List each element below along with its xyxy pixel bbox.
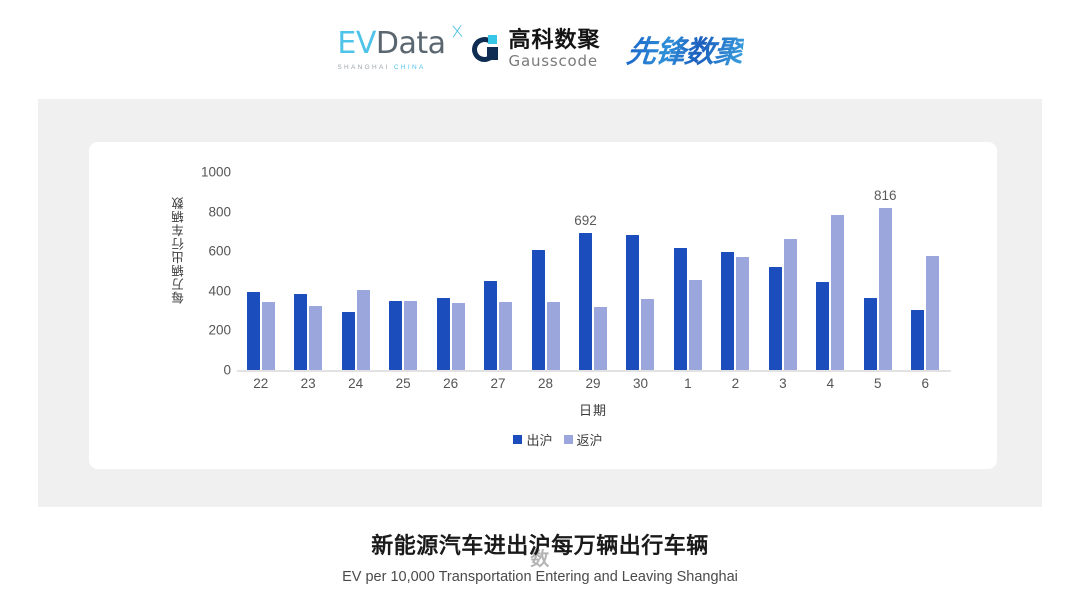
bar-group — [759, 172, 806, 370]
y-axis-tick-label: 0 — [223, 363, 231, 378]
x-axis-tick-label: 30 — [633, 376, 648, 391]
bar-holder — [357, 290, 370, 370]
bar-fanhu[interactable] — [262, 302, 275, 370]
gausscode-logo: 高科数聚 Gausscode — [472, 30, 601, 69]
bar-holder — [547, 302, 560, 370]
x-axis-tick-label: 3 — [779, 376, 787, 391]
bar-chuhu[interactable] — [437, 298, 450, 370]
bar-fanhu[interactable] — [452, 303, 465, 370]
bar-chuhu[interactable] — [674, 248, 687, 370]
footer-title: 新能源汽车进出沪每万辆出行车辆 — [0, 528, 1080, 560]
bar-chuhu[interactable] — [342, 312, 355, 370]
bar-chuhu[interactable] — [389, 301, 402, 370]
x-axis-tick-label: 24 — [348, 376, 363, 391]
gausscode-chinese-name: 高科数聚 — [509, 30, 601, 52]
y-axis-title: 每万辆出行车辆数 — [169, 170, 187, 330]
x-axis-tick-label: 4 — [827, 376, 835, 391]
bar-fanhu[interactable] — [689, 280, 702, 370]
bar-group: 692 — [569, 172, 616, 370]
bar-chuhu[interactable] — [247, 292, 260, 370]
bar-holder — [389, 301, 402, 370]
x-axis-tick-label: 23 — [301, 376, 316, 391]
bar-holder — [674, 248, 687, 370]
y-axis-tick-label: 400 — [208, 283, 231, 298]
bar-fanhu[interactable] — [357, 290, 370, 370]
legend-item-chuhu[interactable]: 出沪 — [513, 430, 552, 449]
bar-group — [522, 172, 569, 370]
bar-group — [902, 172, 949, 370]
y-axis-tick-label: 800 — [208, 204, 231, 219]
bar-holder — [816, 282, 829, 370]
x-axis-tick-label: 29 — [585, 376, 600, 391]
legend-swatch-icon — [564, 435, 573, 444]
bar-holder — [769, 267, 782, 370]
bar-value-label: 692 — [574, 213, 597, 228]
evdata-ev-text: EV — [337, 26, 375, 61]
chart-plot-wrapper: 每万辆出行车辆数 02004006008001000 692816 222324… — [89, 142, 997, 469]
bar-chuhu[interactable] — [864, 298, 877, 370]
bar-chuhu[interactable] — [484, 281, 497, 370]
evdata-tagline: SHANGHAI CHINA — [337, 64, 425, 71]
x-axis-tick-label: 22 — [253, 376, 268, 391]
x-axis-tick-label: 1 — [684, 376, 692, 391]
bar-holder — [499, 302, 512, 370]
bar-chuhu[interactable] — [816, 282, 829, 370]
bar-holder — [247, 292, 260, 370]
x-axis-tick-label: 5 — [874, 376, 882, 391]
bar-fanhu[interactable] — [547, 302, 560, 370]
logo-bar: EVData x SHANGHAI CHINA 高科数聚 Gausscode 先… — [0, 18, 1080, 80]
evdata-logo: EVData x SHANGHAI CHINA — [337, 27, 445, 71]
bar-group — [237, 172, 284, 370]
x-axis-title: 日期 — [237, 400, 949, 419]
bar-chuhu[interactable] — [294, 294, 307, 370]
chart-legend: 出沪返沪 — [89, 430, 997, 449]
x-axis-tick-label: 2 — [732, 376, 740, 391]
evdata-data-text: Data — [376, 26, 446, 61]
bar-holder: 692 — [579, 233, 592, 370]
y-axis-ticks: 02004006008001000 — [189, 172, 231, 370]
bar-holder — [437, 298, 450, 370]
bar-fanhu[interactable] — [309, 306, 322, 370]
bar-group — [807, 172, 854, 370]
bar-holder — [262, 302, 275, 370]
bar-holder — [594, 307, 607, 370]
bar-group — [379, 172, 426, 370]
bar-group — [474, 172, 521, 370]
bar-chuhu[interactable] — [911, 310, 924, 370]
plot-area: 692816 — [237, 172, 949, 370]
x-axis-tick-label: 25 — [396, 376, 411, 391]
bar-holder — [404, 301, 417, 370]
x-axis-ticks: 222324252627282930123456 — [237, 376, 949, 396]
bar-holder — [626, 235, 639, 370]
bar-chuhu[interactable] — [626, 235, 639, 370]
bar-holder — [911, 310, 924, 370]
bar-holder — [926, 256, 939, 370]
bar-group — [332, 172, 379, 370]
bar-holder — [532, 250, 545, 370]
bar-chuhu[interactable] — [579, 233, 592, 370]
xianfeng-shuju-logo: 先锋数聚 — [624, 27, 745, 71]
bar-holder — [784, 239, 797, 370]
bar-fanhu[interactable] — [736, 257, 749, 370]
x-axis-tick-label: 27 — [491, 376, 506, 391]
bar-holder — [721, 252, 734, 370]
legend-label: 出沪 — [526, 430, 552, 449]
bar-group — [664, 172, 711, 370]
bar-holder — [342, 312, 355, 370]
bar-fanhu[interactable] — [926, 256, 939, 370]
bar-value-label: 816 — [874, 188, 897, 203]
bar-holder — [864, 298, 877, 370]
y-axis-tick-label: 600 — [208, 244, 231, 259]
bar-chuhu[interactable] — [532, 250, 545, 370]
footer-subtitle: EV per 10,000 Transportation Entering an… — [0, 569, 1080, 585]
y-axis-tick-label: 1000 — [201, 165, 231, 180]
bar-chuhu[interactable] — [721, 252, 734, 370]
bar-fanhu[interactable] — [831, 215, 844, 370]
gausscode-cyan-square-shape — [488, 35, 497, 44]
bar-holder — [309, 306, 322, 370]
x-axis-tick-label: 6 — [922, 376, 930, 391]
gausscode-wordmark: 高科数聚 Gausscode — [509, 30, 601, 69]
y-axis-tick-label: 200 — [208, 323, 231, 338]
bar-fanhu[interactable] — [404, 301, 417, 370]
gausscode-g-icon — [472, 34, 502, 64]
bar-group: 816 — [854, 172, 901, 370]
bar-fanhu[interactable] — [641, 299, 654, 370]
x-axis-tick-label: 28 — [538, 376, 553, 391]
evdata-tagline-country: CHINA — [394, 64, 426, 71]
evdata-cross-icon: x — [450, 20, 463, 42]
bar-fanhu[interactable] — [784, 239, 797, 370]
bar-fanhu[interactable] — [499, 302, 512, 370]
bar-holder — [641, 299, 654, 370]
x-axis-tick-label: 26 — [443, 376, 458, 391]
bar-group — [617, 172, 664, 370]
bar-fanhu[interactable] — [594, 307, 607, 370]
chart-card: 每万辆出行车辆数 02004006008001000 692816 222324… — [89, 142, 997, 469]
bar-group — [427, 172, 474, 370]
evdata-tagline-city: SHANGHAI — [337, 64, 393, 71]
bar-holder — [736, 257, 749, 370]
bar-holder — [452, 303, 465, 370]
x-axis-baseline — [237, 370, 951, 372]
legend-label: 返沪 — [577, 430, 603, 449]
legend-item-fanhu[interactable]: 返沪 — [564, 430, 603, 449]
bar-holder — [689, 280, 702, 370]
footer: 数 新能源汽车进出沪每万辆出行车辆 EV per 10,000 Transpor… — [0, 528, 1080, 585]
bar-group — [284, 172, 331, 370]
gausscode-english-name: Gausscode — [509, 54, 601, 69]
bar-fanhu[interactable] — [879, 208, 892, 370]
bar-chuhu[interactable] — [769, 267, 782, 370]
bar-holder — [294, 294, 307, 370]
bar-holder — [831, 215, 844, 370]
bar-holder: 816 — [879, 208, 892, 370]
bar-holder — [484, 281, 497, 370]
legend-swatch-icon — [513, 435, 522, 444]
bar-group — [712, 172, 759, 370]
evdata-wordmark: EVData x — [337, 29, 445, 59]
gausscode-dark-square-shape — [487, 47, 498, 60]
